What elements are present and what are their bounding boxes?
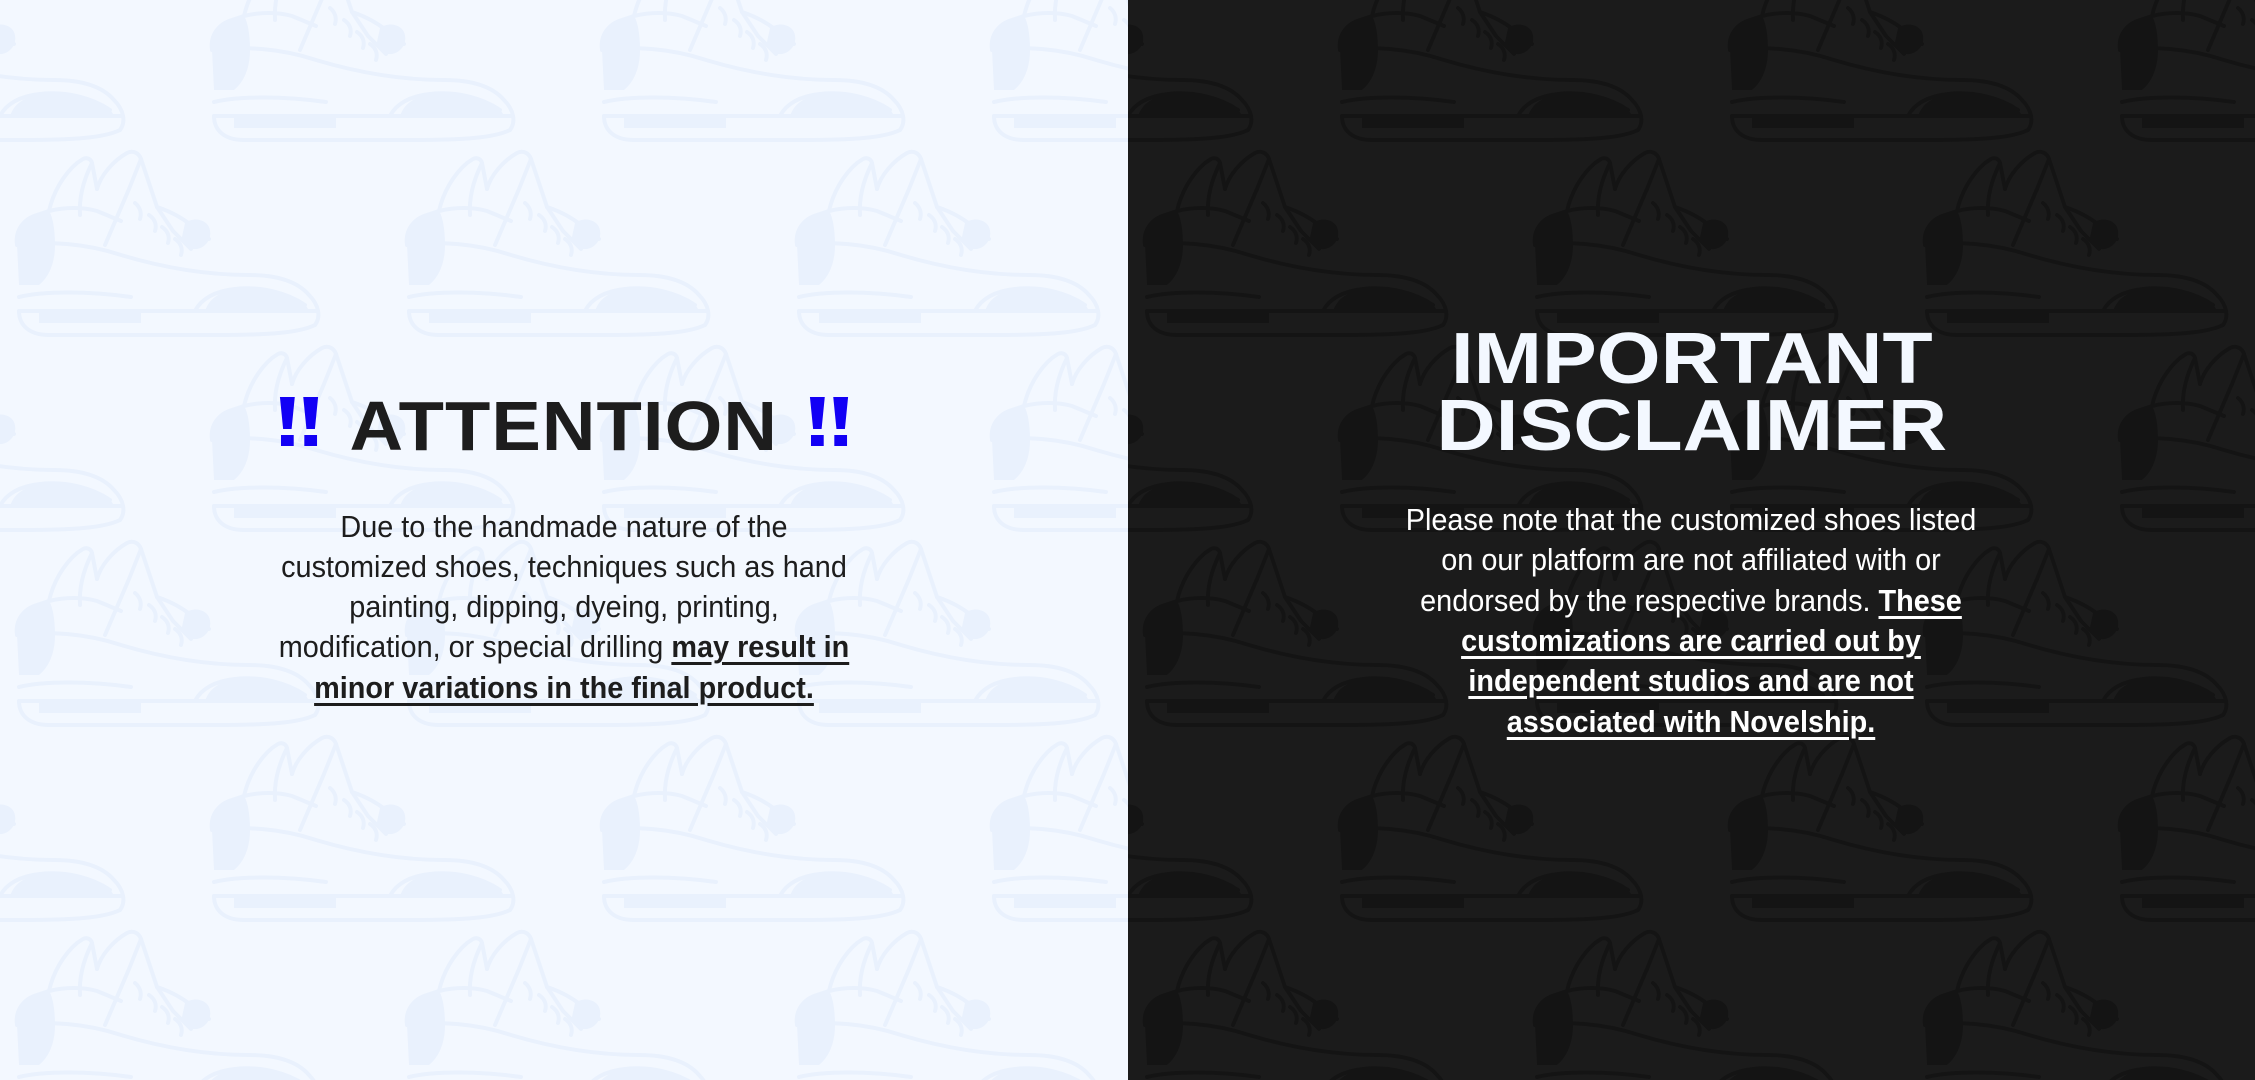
disclaimer-body: Please note that the customized shoes li… — [1394, 500, 1989, 742]
dual-notice-banner: ATTENTION Due to the handmade nature of … — [0, 0, 2255, 1080]
disclaimer-heading-line2: DISCLAIMER — [1436, 386, 1947, 466]
double-exclamation-icon — [277, 395, 319, 447]
disclaimer-heading: IMPORTANT DISCLAIMER — [1128, 326, 2255, 460]
attention-heading-text: ATTENTION — [349, 387, 778, 465]
attention-panel: ATTENTION Due to the handmade nature of … — [0, 0, 1128, 1080]
attention-content: ATTENTION Due to the handmade nature of … — [0, 392, 1128, 708]
attention-body: Due to the handmade nature of the custom… — [266, 507, 861, 708]
disclaimer-content: IMPORTANT DISCLAIMER Please note that th… — [1128, 326, 2255, 742]
disclaimer-panel: IMPORTANT DISCLAIMER Please note that th… — [1128, 0, 2255, 1080]
attention-heading: ATTENTION — [9, 392, 1119, 461]
double-exclamation-icon — [808, 395, 850, 447]
